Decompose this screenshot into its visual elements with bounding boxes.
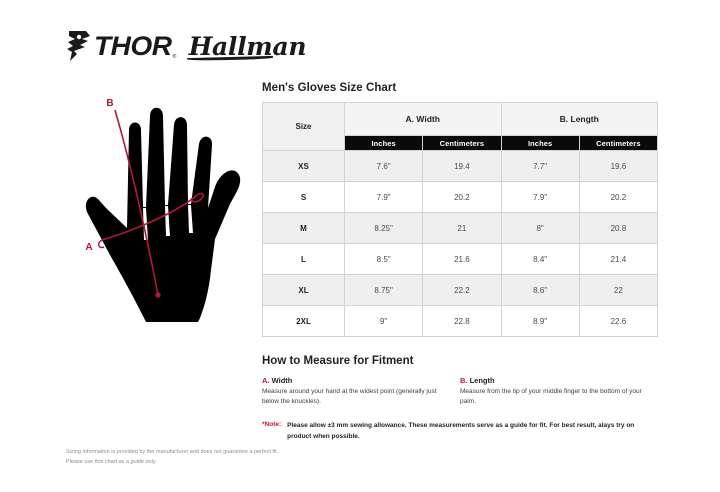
how-to-measure-section: How to Measure for Fitment A. Width Meas… [262, 355, 658, 442]
cell-length-inches: 8.6" [501, 275, 579, 306]
cell-width-centimeters: 22.8 [423, 306, 501, 337]
cell-width-centimeters: 21.6 [423, 244, 501, 275]
cell-width-inches: 7.9" [345, 182, 423, 213]
cell-length-centimeters: 22.6 [579, 306, 657, 337]
thor-wordmark: THOR® [94, 33, 176, 60]
glove-shape [86, 108, 240, 318]
cell-size: M [263, 213, 345, 244]
table-row: S 7.9" 20.2 7.9" 20.2 [263, 182, 658, 213]
cell-length-inches: 8" [501, 213, 579, 244]
how-to-measure-length: B. Length Measure from the tip of your m… [460, 376, 658, 407]
how-to-width-label: Width [272, 376, 293, 385]
column-header-length-inches: Inches [501, 136, 579, 151]
size-chart-page: THOR® Hallman B A [0, 0, 720, 492]
table-row: M 8.25" 21 8" 20.8 [263, 213, 658, 244]
length-measure-endpoint [155, 292, 160, 297]
how-to-length-label: Length [470, 376, 495, 385]
table-header-row-groups: Size A. Width B. Length [263, 103, 658, 136]
cell-size: XL [263, 275, 345, 306]
table-row: L 8.5" 21.6 8.4" 21.4 [263, 244, 658, 275]
cell-width-inches: 9" [345, 306, 423, 337]
cell-size: S [263, 182, 345, 213]
cell-width-inches: 8.75" [345, 275, 423, 306]
table-head: Size A. Width B. Length Inches Centimete… [263, 103, 658, 151]
chart-content: Men's Gloves Size Chart Size A. Width B.… [262, 82, 658, 442]
table-row: XL 8.75" 22.2 8.6" 22 [263, 275, 658, 306]
column-header-size: Size [263, 103, 345, 151]
how-to-measure-title: How to Measure for Fitment [262, 355, 658, 367]
column-group-width: A. Width [345, 103, 502, 136]
footer-line-2: Please use this chart as a guide only. [66, 458, 386, 468]
cell-width-centimeters: 22.2 [423, 275, 501, 306]
glove-cuff [144, 318, 200, 322]
brand-header: THOR® Hallman [66, 30, 306, 62]
how-to-width-body: Measure around your hand at the widest p… [262, 387, 448, 407]
size-chart-table: Size A. Width B. Length Inches Centimete… [262, 102, 658, 337]
cell-length-inches: 7.9" [501, 182, 579, 213]
cell-width-centimeters: 19.4 [423, 151, 501, 182]
thor-registered-mark: ® [173, 54, 176, 60]
table-row: 2XL 9" 22.8 8.9" 22.6 [263, 306, 658, 337]
cell-length-centimeters: 21.4 [579, 244, 657, 275]
footer-disclaimer: Sizing information is provided by the ma… [66, 448, 386, 467]
note-text: Please allow ±3 mm sewing allowance. The… [287, 421, 647, 442]
glove-silhouette-svg: B A [72, 92, 262, 322]
cell-width-centimeters: 20.2 [423, 182, 501, 213]
column-header-width-centimeters: Centimeters [423, 136, 501, 151]
how-to-width-heading: A. Width [262, 376, 448, 385]
cell-size: 2XL [263, 306, 345, 337]
table-row: XS 7.6" 19.4 7.7" 19.6 [263, 151, 658, 182]
cell-size: XS [263, 151, 345, 182]
how-to-length-mark: B. [460, 376, 468, 385]
cell-width-centimeters: 21 [423, 213, 501, 244]
annotation-b-label: B [106, 98, 113, 109]
how-to-width-mark: A. [262, 376, 270, 385]
how-to-length-heading: B. Length [460, 376, 646, 385]
thor-logo: THOR® [66, 30, 173, 62]
cell-width-inches: 8.5" [345, 244, 423, 275]
cell-length-inches: 7.7" [501, 151, 579, 182]
cell-length-centimeters: 19.6 [579, 151, 657, 182]
column-header-length-centimeters: Centimeters [579, 136, 657, 151]
thor-helmet-icon [66, 30, 92, 62]
note-label: *Note: [262, 421, 281, 428]
how-to-length-body: Measure from the tip of your middle fing… [460, 387, 646, 407]
hallman-logo: Hallman [189, 34, 307, 59]
how-to-measure-width: A. Width Measure around your hand at the… [262, 376, 460, 407]
column-group-length: B. Length [501, 103, 658, 136]
annotation-a-label: A [85, 242, 92, 253]
cell-width-inches: 8.25" [345, 213, 423, 244]
cell-width-inches: 7.6" [345, 151, 423, 182]
table-body: XS 7.6" 19.4 7.7" 19.6 S 7.9" 20.2 7.9" … [263, 151, 658, 337]
cell-size: L [263, 244, 345, 275]
note-block: *Note: Please allow ±3 mm sewing allowan… [262, 421, 658, 442]
cell-length-inches: 8.4" [501, 244, 579, 275]
column-header-width-inches: Inches [345, 136, 423, 151]
glove-illustration: B A [72, 92, 262, 322]
how-to-measure-columns: A. Width Measure around your hand at the… [262, 376, 658, 407]
cell-length-centimeters: 20.2 [579, 182, 657, 213]
page-title: Men's Gloves Size Chart [262, 82, 658, 94]
cell-length-centimeters: 22 [579, 275, 657, 306]
cell-length-centimeters: 20.8 [579, 213, 657, 244]
footer-line-1: Sizing information is provided by the ma… [66, 448, 386, 458]
cell-length-inches: 8.9" [501, 306, 579, 337]
